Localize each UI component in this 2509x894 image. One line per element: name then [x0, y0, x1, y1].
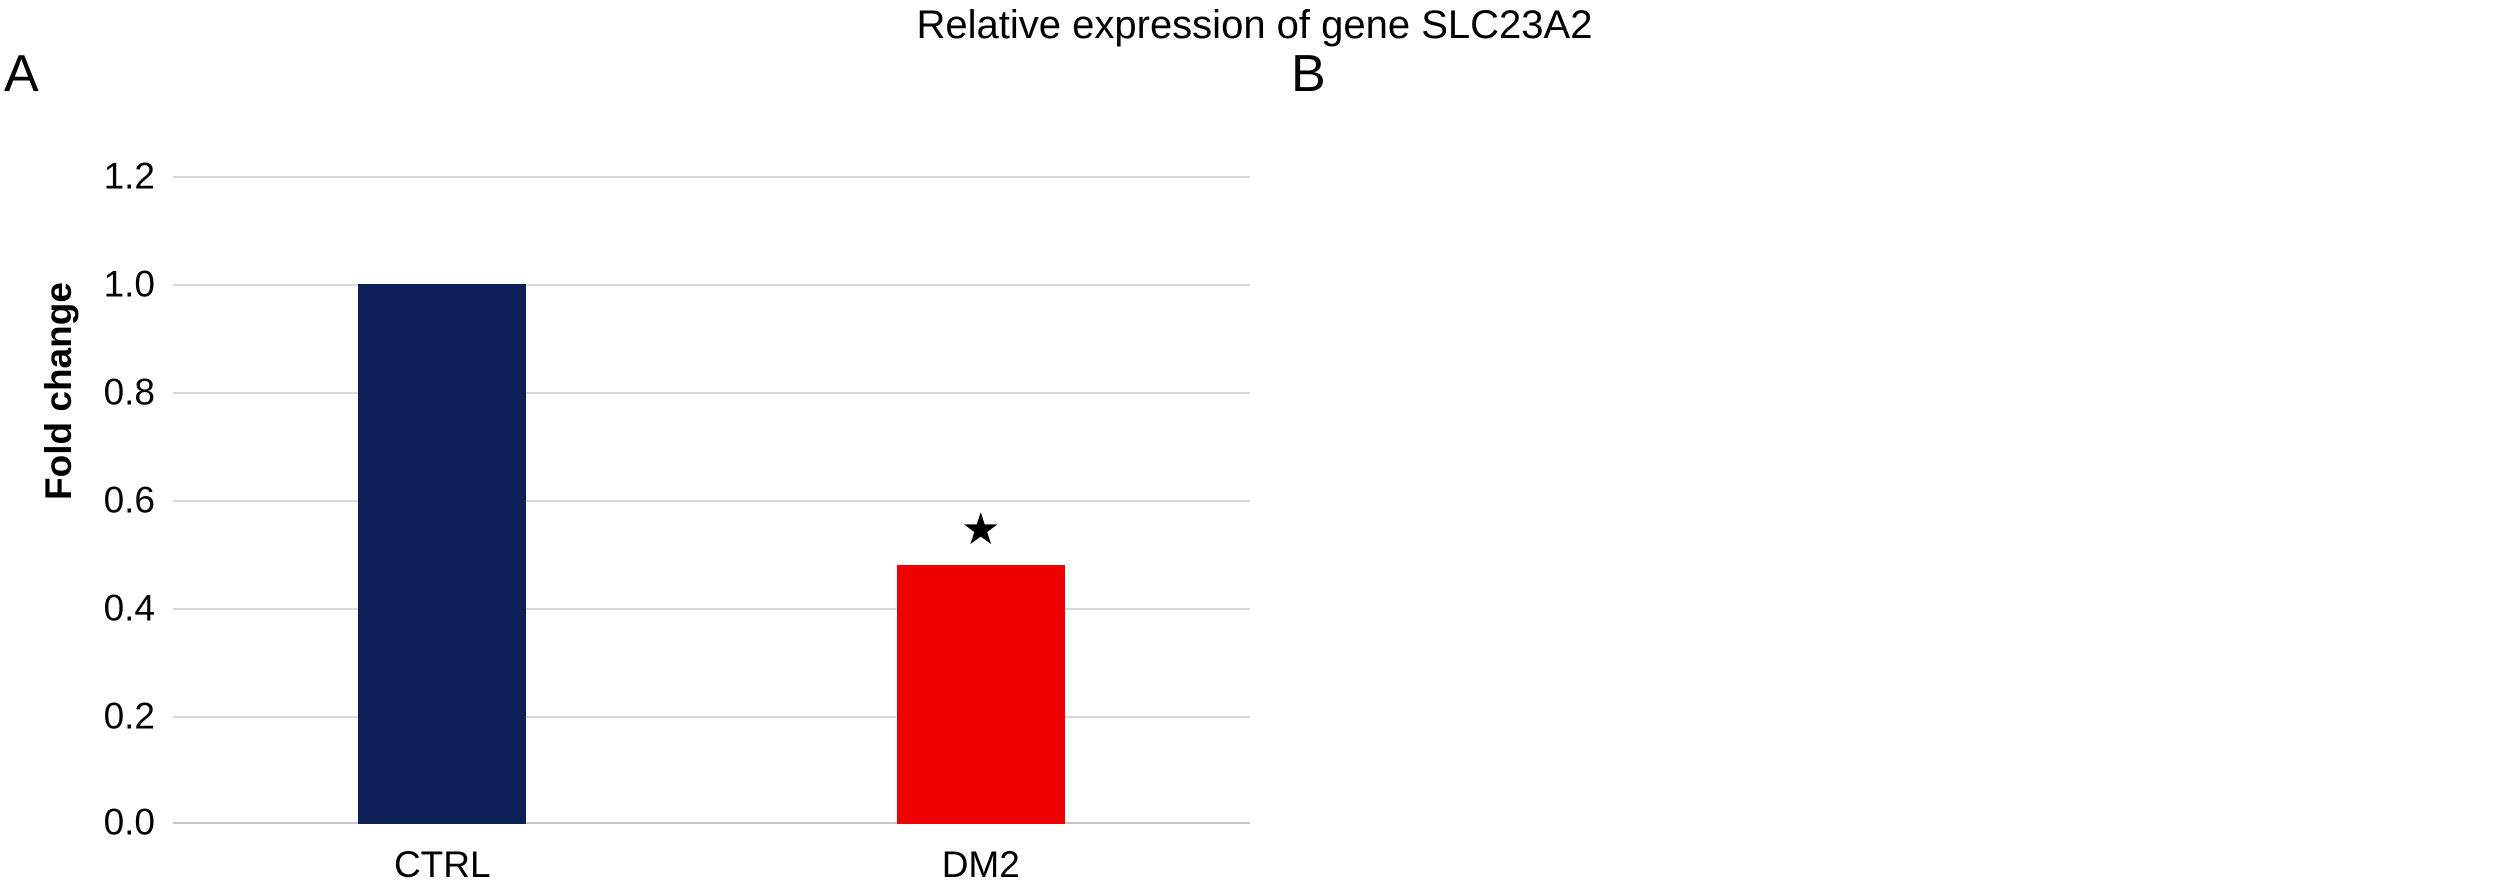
- y-tick-label: 0.4: [104, 590, 155, 627]
- bar-dm2-a[interactable]: ★ DM2: [897, 565, 1065, 824]
- x-tick-label: DM2: [942, 845, 1020, 885]
- y-tick-label: 1.2: [104, 158, 155, 195]
- y-tick-label: 0.8: [104, 374, 155, 411]
- plot-area-a: 1.2 1.0 0.8 0.6 0.4 0.2 0.0 CTRL ★ DM2: [173, 176, 1250, 824]
- panel-letter-a: A: [4, 46, 39, 102]
- bars-layer-a: CTRL ★ DM2: [173, 176, 1250, 824]
- x-tick-label: CTRL: [394, 845, 491, 885]
- bar-slot: ★ DM2: [712, 176, 1251, 824]
- y-axis-label-a: Fold change: [38, 282, 80, 500]
- y-tick-label: 0.0: [104, 804, 155, 841]
- chart-panel-a: A Fold change 1.2 1.0 0.8 0.6 0.4 0.2 0.…: [0, 0, 1254, 894]
- significance-star: ★: [961, 508, 1000, 552]
- bar-slot: CTRL: [173, 176, 712, 824]
- y-tick-label: 1.0: [104, 266, 155, 303]
- y-tick-label: 0.2: [104, 698, 155, 735]
- chart-panel-b: B Fold change 1.2 1.0 0.8 0.6 0.4 0.2 0.…: [1255, 0, 2509, 894]
- bar-ctrl-a[interactable]: CTRL: [358, 284, 526, 824]
- y-tick-label: 0.6: [104, 482, 155, 519]
- panel-letter-b: B: [1291, 46, 1326, 102]
